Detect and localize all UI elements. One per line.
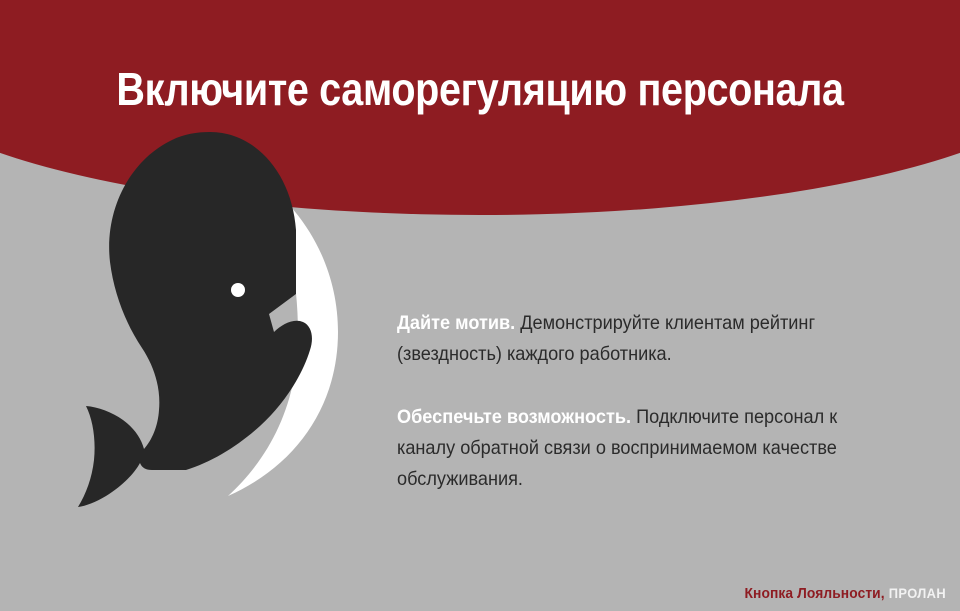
footer-credit: Кнопка Лояльности, ПРОЛАН	[745, 585, 946, 603]
paragraph-motive: Дайте мотив. Демонстрируйте клиентам рей…	[397, 308, 881, 370]
paragraph-motive-lead: Дайте мотив.	[397, 312, 515, 334]
body-copy: Дайте мотив. Демонстрируйте клиентам рей…	[397, 308, 917, 495]
paragraph-capability-lead: Обеспечьте возможность.	[397, 406, 631, 428]
page-title: Включите саморегуляцию персонала	[67, 31, 893, 118]
slide-canvas: Включите саморегуляцию персонала Дайте м…	[0, 0, 960, 611]
paragraph-capability: Обеспечьте возможность. Подключите персо…	[397, 402, 881, 495]
whale-eye	[231, 283, 245, 297]
footer-company: ПРОЛАН	[889, 585, 946, 601]
footer-brand: Кнопка Лояльности,	[745, 585, 885, 602]
whale-illustration	[60, 118, 380, 508]
